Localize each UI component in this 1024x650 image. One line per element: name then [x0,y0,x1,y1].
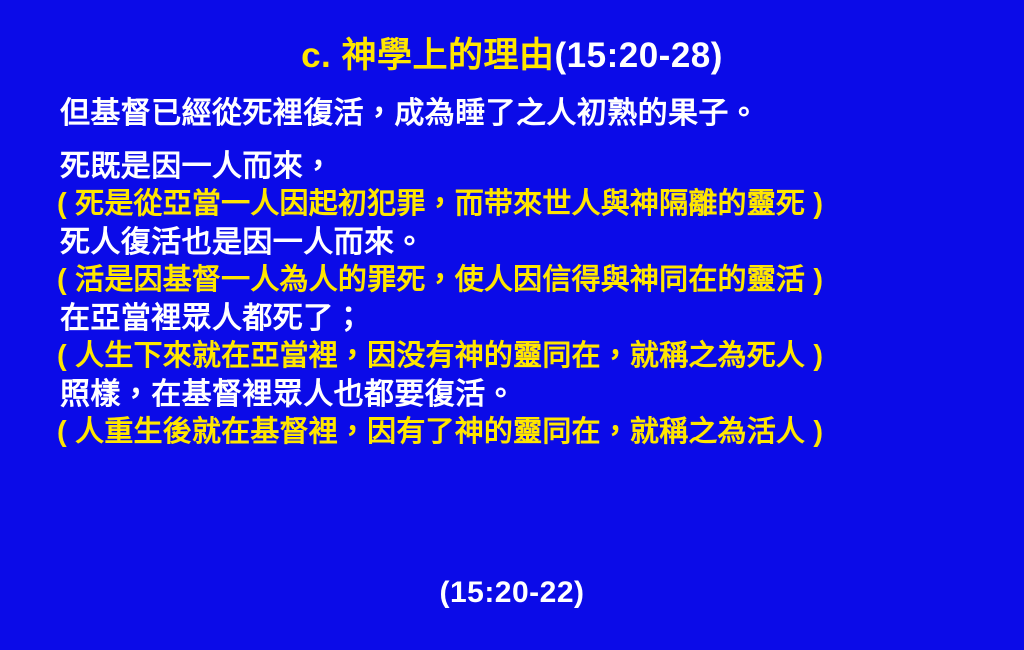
title-scripture-reference: (15:20-28) [555,36,723,75]
body-line-8: 照樣，在基督裡眾人也都要復活。 [60,380,980,410]
body-line-3-note: ( 死是從亞當一人因起初犯罪，而带來世人與神隔離的靈死 ) [57,190,980,219]
slide-body: 但基督已經從死裡復活，成為睡了之人初熟的果子。 死既是因一人而來， ( 死是從亞… [60,99,980,447]
body-line-2: 死既是因一人而來， [60,152,980,182]
body-line-1: 但基督已經從死裡復活，成為睡了之人初熟的果子。 [60,99,980,129]
body-line-4: 死人復活也是因一人而來。 [60,228,980,258]
slide-canvas: c. 神學上的理由(15:20-28) 但基督已經從死裡復活，成為睡了之人初熟的… [0,0,1024,650]
body-line-5-note: ( 活是因基督一人為人的罪死，使人因信得與神同在的靈活 ) [57,266,980,295]
slide-title: c. 神學上的理由(15:20-28) [0,38,1024,73]
body-line-6: 在亞當裡眾人都死了； [60,304,980,334]
body-line-9-note: ( 人重生後就在基督裡，因有了神的靈同在，就稱之為活人 ) [57,418,980,447]
body-line-7-note: ( 人生下來就在亞當裡，因没有神的靈同在，就稱之為死人 ) [57,342,980,371]
footer-scripture-reference: (15:20-22) [439,576,584,609]
title-heading: c. 神學上的理由 [301,36,554,75]
slide-footer: (15:20-22) [0,576,1024,610]
